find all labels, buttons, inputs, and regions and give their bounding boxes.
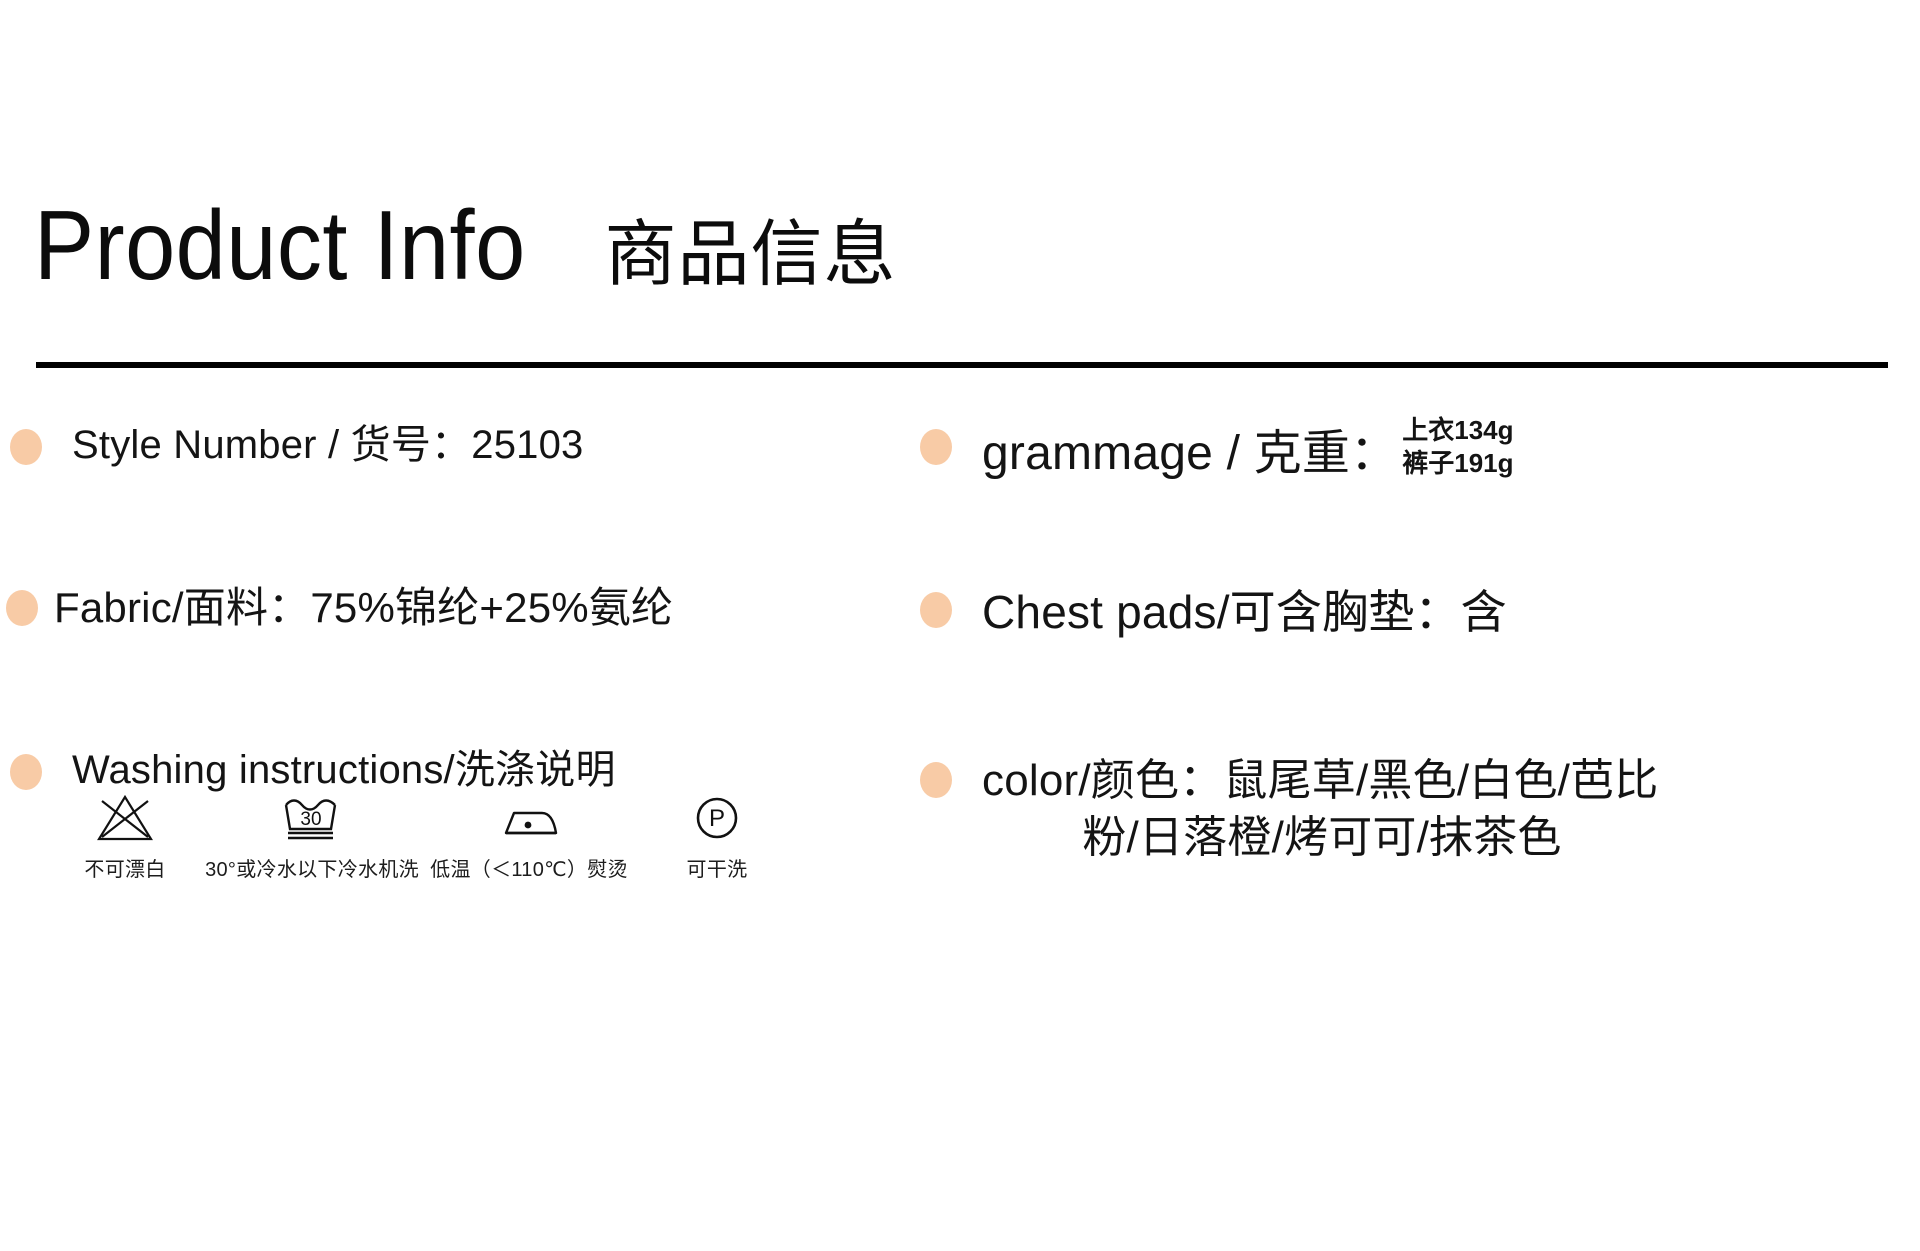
grammage-value-bottom: 裤子191g xyxy=(1402,447,1513,480)
info-row-fabric: Fabric/面料：75%锦纶+25%氨纶 xyxy=(6,581,930,635)
no-bleach-icon xyxy=(96,783,154,843)
machine-wash-30-icon: 30 xyxy=(280,783,344,843)
grammage-values: 上衣134g 裤子191g xyxy=(1402,414,1513,481)
title-divider xyxy=(36,362,1888,368)
page-title-en: Product Info xyxy=(34,196,526,294)
care-symbol-no-bleach: 不可漂白 xyxy=(50,783,200,880)
care-symbols-row: 不可漂白 30 30°或冷水以下冷水机洗 xyxy=(50,818,790,880)
grammage-value-top: 上衣134g xyxy=(1402,414,1513,447)
info-column-left: Style Number / 货号：25103 Fabric/面料：75%锦纶+… xyxy=(0,420,930,796)
style-number-label: Style Number / 货号：25103 xyxy=(72,420,583,471)
bullet-icon xyxy=(6,590,38,626)
bullet-icon xyxy=(920,762,952,798)
care-caption: 30°或冷水以下冷水机洗 xyxy=(205,860,419,880)
info-row-style-number: Style Number / 货号：25103 xyxy=(10,420,930,471)
care-caption: 可干洗 xyxy=(687,860,748,880)
bullet-icon xyxy=(920,429,952,465)
dry-clean-p-icon: P xyxy=(692,783,742,843)
grammage-label: grammage / 克重 xyxy=(982,423,1350,484)
care-symbol-dry-clean: P 可干洗 xyxy=(652,783,782,880)
page-title-cn: 商品信息 xyxy=(604,219,896,291)
chest-pads-label: Chest pads/可含胸垫：含 xyxy=(982,583,1507,642)
care-caption: 低温（＜110℃）熨烫 xyxy=(430,860,628,880)
care-caption: 不可漂白 xyxy=(84,860,165,880)
bullet-icon xyxy=(10,754,42,790)
color-line-1: color/颜色：鼠尾草/黑色/白色/芭比 xyxy=(982,756,1658,805)
iron-low-heat-icon xyxy=(496,783,562,843)
info-row-chest-pads: Chest pads/可含胸垫：含 xyxy=(920,583,1920,642)
bullet-icon xyxy=(10,429,42,465)
info-row-grammage: grammage / 克重： 上衣134g 裤子191g xyxy=(920,420,1920,487)
page-title: Product Info 商品信息 xyxy=(34,196,896,294)
grammage-row: grammage / 克重： 上衣134g 裤子191g xyxy=(982,420,1514,487)
grammage-colon: ： xyxy=(1350,423,1398,484)
care-symbols-block: 不可漂白 30 30°或冷水以下冷水机洗 xyxy=(50,818,790,880)
bullet-icon xyxy=(920,592,952,628)
info-column-right: grammage / 克重： 上衣134g 裤子191g Chest pads/… xyxy=(920,420,1920,866)
svg-text:30: 30 xyxy=(300,809,321,830)
care-symbol-machine-wash: 30 30°或冷水以下冷水机洗 xyxy=(212,783,412,880)
care-symbol-iron-low: 低温（＜110℃）熨烫 xyxy=(424,783,634,880)
color-text: color/颜色：鼠尾草/黑色/白色/芭比 粉/日落橙/烤可可/抹茶色 xyxy=(982,753,1772,866)
svg-text:P: P xyxy=(709,805,725,832)
info-row-color: color/颜色：鼠尾草/黑色/白色/芭比 粉/日落橙/烤可可/抹茶色 xyxy=(920,753,1920,866)
color-line-2: 粉/日落橙/烤可可/抹茶色 xyxy=(982,810,1662,866)
product-info-page: Product Info 商品信息 Style Number / 货号：2510… xyxy=(0,0,1920,1251)
fabric-label: Fabric/面料：75%锦纶+25%氨纶 xyxy=(54,581,673,635)
